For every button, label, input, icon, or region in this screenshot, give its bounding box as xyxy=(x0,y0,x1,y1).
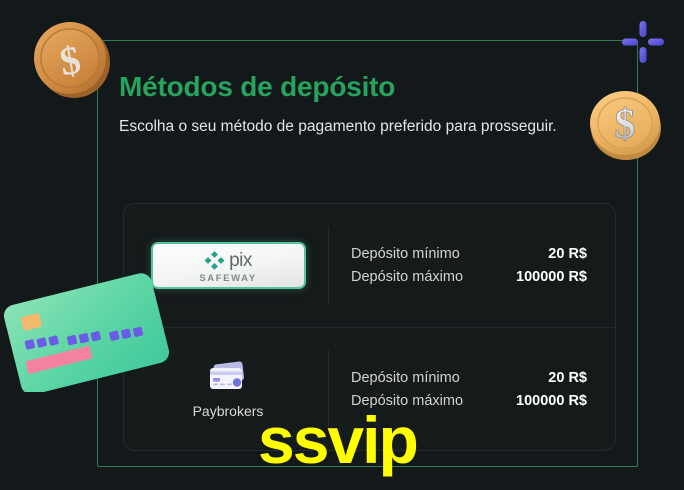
deposit-max-line: Depósito máximo 100000 R$ xyxy=(351,269,587,285)
plus-sparkle-icon xyxy=(620,19,666,65)
deposit-max-label: Depósito máximo xyxy=(351,393,463,409)
page-subtitle: Escolha o seu método de pagamento prefer… xyxy=(119,115,581,139)
pix-safeway-logo: pix SAFEWAY xyxy=(151,242,306,289)
deposit-max-value: 100000 R$ xyxy=(516,269,587,285)
payment-method-limits-paybrokers: Depósito mínimo 20 R$ Depósito máximo 10… xyxy=(329,370,611,409)
credit-cards-stack-icon xyxy=(205,360,251,396)
pix-diamond-icon xyxy=(204,250,225,271)
deposit-max-label: Depósito máximo xyxy=(351,269,463,285)
pix-safeway-label: SAFEWAY xyxy=(199,274,256,284)
paybrokers-label: Paybrokers xyxy=(193,403,264,419)
deposit-min-label: Depósito mínimo xyxy=(351,246,460,262)
payment-method-limits-pix: Depósito mínimo 20 R$ Depósito máximo 10… xyxy=(329,246,611,285)
plus-icon xyxy=(620,19,666,65)
deposit-min-line: Depósito mínimo 20 R$ xyxy=(351,370,587,386)
payment-method-row-paybrokers[interactable]: Paybrokers Depósito mínimo 20 R$ Depósit… xyxy=(124,327,615,450)
payment-method-brand-pix: pix SAFEWAY xyxy=(128,242,328,289)
page-title: Métodos de depósito xyxy=(119,70,589,104)
payment-method-row-pix[interactable]: pix SAFEWAY Depósito mínimo 20 R$ Depósi… xyxy=(124,204,615,327)
payment-method-brand-paybrokers: Paybrokers xyxy=(128,360,328,419)
page-header: Métodos de depósito Escolha o seu método… xyxy=(119,70,589,138)
deposit-max-value: 100000 R$ xyxy=(516,393,587,409)
pix-logo-mark: pix xyxy=(204,250,252,272)
paybrokers-card-icon xyxy=(205,360,251,396)
deposit-min-line: Depósito mínimo 20 R$ xyxy=(351,246,587,262)
svg-text:$: $ xyxy=(56,37,84,85)
deposit-min-value: 20 R$ xyxy=(548,246,587,262)
deposit-max-line: Depósito máximo 100000 R$ xyxy=(351,393,587,409)
pix-wordmark: pix xyxy=(229,251,252,270)
deposit-min-label: Depósito mínimo xyxy=(351,370,460,386)
payment-methods-panel: pix SAFEWAY Depósito mínimo 20 R$ Depósi… xyxy=(123,203,616,451)
deposit-min-value: 20 R$ xyxy=(548,370,587,386)
